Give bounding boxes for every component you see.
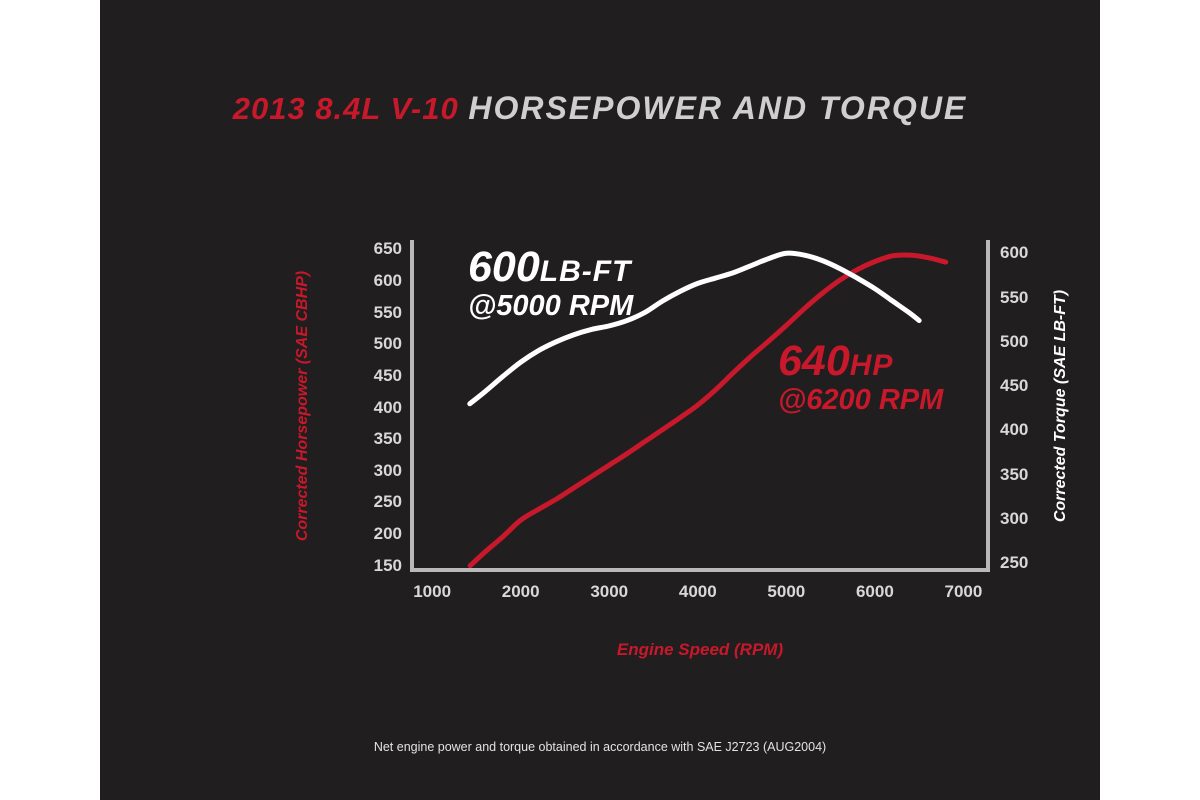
y-axis-left-title: Corrected Horsepower (SAE CBHP) — [294, 240, 320, 572]
footnote: Net engine power and torque obtained in … — [100, 740, 1100, 754]
x-axis-tick-label: 4000 — [679, 582, 717, 602]
callout-horsepower-value: 640 — [778, 337, 850, 385]
y-axis-right-tick-label: 350 — [1000, 465, 1028, 485]
y-axis-left-tick-label: 400 — [374, 398, 402, 418]
y-axis-right-tick-label: 500 — [1000, 332, 1028, 352]
y-axis-right-tick-label: 450 — [1000, 376, 1028, 396]
y-axis-right-tick-label: 250 — [1000, 553, 1028, 573]
callout-horsepower-rpm: @6200 RPM — [778, 384, 943, 417]
y-axis-left-tick-label: 500 — [374, 334, 402, 354]
chart-title: 2013 8.4L V-10 HORSEPOWER AND TORQUE — [100, 90, 1100, 127]
x-axis-tick-label: 2000 — [502, 582, 540, 602]
x-axis-tick-label: 6000 — [856, 582, 894, 602]
y-axis-right-tick-label: 600 — [1000, 243, 1028, 263]
callout-torque-unit: LB-FT — [540, 255, 632, 288]
x-axis-ticks: 1000200030004000500060007000 — [410, 582, 990, 612]
x-axis-tick-label: 1000 — [413, 582, 451, 602]
y-axis-left-tick-label: 150 — [374, 556, 402, 576]
y-axis-right-tick-label: 550 — [1000, 288, 1028, 308]
chart-poster: 2013 8.4L V-10 HORSEPOWER AND TORQUE Cor… — [0, 0, 1200, 800]
callout-horsepower-unit: HP — [850, 349, 894, 382]
x-axis-tick-label: 5000 — [767, 582, 805, 602]
y-axis-left-tick-label: 250 — [374, 492, 402, 512]
chart-panel: 2013 8.4L V-10 HORSEPOWER AND TORQUE Cor… — [100, 0, 1100, 800]
y-axis-right-tick-label: 300 — [1000, 509, 1028, 529]
y-axis-left-tick-label: 350 — [374, 429, 402, 449]
y-axis-right-tick-label: 400 — [1000, 420, 1028, 440]
callout-horsepower: 640HP @6200 RPM — [778, 337, 943, 417]
title-metric: HORSEPOWER AND TORQUE — [468, 90, 967, 126]
y-axis-right-title: Corrected Torque (SAE LB-FT) — [1052, 240, 1078, 572]
y-axis-left-ticks: 650600550500450400350300250200150 — [358, 240, 402, 572]
y-axis-left-tick-label: 550 — [374, 303, 402, 323]
x-axis-tick-label: 3000 — [590, 582, 628, 602]
y-axis-left-tick-label: 600 — [374, 271, 402, 291]
y-axis-left-tick-label: 200 — [374, 524, 402, 544]
y-axis-left-tick-label: 650 — [374, 239, 402, 259]
x-axis-title: Engine Speed (RPM) — [410, 640, 990, 660]
y-axis-left-tick-label: 450 — [374, 366, 402, 386]
y-axis-right-ticks: 600550500450400350300250 — [1000, 240, 1050, 572]
title-model: 2013 8.4L V-10 — [233, 91, 459, 126]
y-axis-left-tick-label: 300 — [374, 461, 402, 481]
callout-torque-rpm: @5000 RPM — [468, 290, 633, 323]
callout-torque-value: 600 — [468, 243, 540, 291]
callout-torque: 600LB-FT @5000 RPM — [468, 243, 633, 323]
x-axis-tick-label: 7000 — [945, 582, 983, 602]
